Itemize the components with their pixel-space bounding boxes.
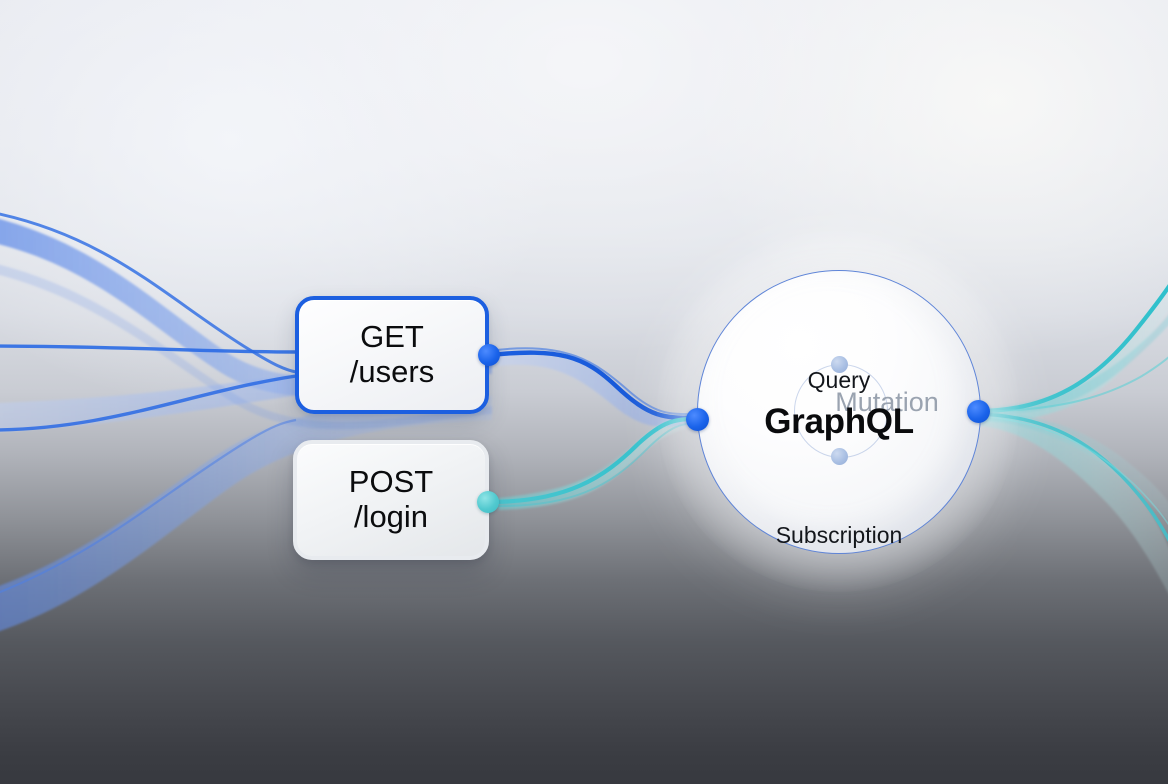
link-left-arc-top: [0, 212, 296, 372]
endpoint-path-users: /users: [350, 355, 434, 390]
endpoint-method-post: POST: [349, 465, 433, 500]
link-get-to-hub: [489, 353, 697, 418]
diagram-canvas: GET /users POST /login Query Mutation Gr…: [0, 0, 1168, 784]
link-hub-out-mid2: [978, 416, 1168, 530]
graphql-hub[interactable]: Query Mutation GraphQL Subscription: [697, 270, 981, 554]
endpoint-path-login: /login: [354, 500, 428, 535]
endpoint-method-get: GET: [360, 320, 424, 355]
link-post-to-hub-secondary: [489, 423, 697, 506]
endpoint-card-post-login[interactable]: POST /login: [293, 440, 489, 560]
link-get-to-hub-secondary: [489, 348, 697, 414]
hub-title: GraphQL: [698, 402, 980, 442]
link-left-in-top: [0, 346, 296, 352]
orbit-dot-bottom: [831, 448, 848, 465]
link-post-to-hub: [489, 419, 697, 502]
ribbon-group-left: [0, 212, 492, 640]
hub-label-subscription: Subscription: [698, 522, 980, 549]
connector-dot-get[interactable]: [478, 344, 500, 366]
ribbon-group-right: [980, 274, 1168, 600]
link-hub-out-bottom: [978, 414, 1168, 546]
ribbon-group-middle: [498, 350, 700, 510]
endpoint-card-get-users[interactable]: GET /users: [295, 296, 489, 414]
link-left-in-bottom: [0, 376, 296, 430]
link-left-arc-bottom: [0, 420, 296, 596]
connector-dot-post[interactable]: [477, 491, 499, 513]
